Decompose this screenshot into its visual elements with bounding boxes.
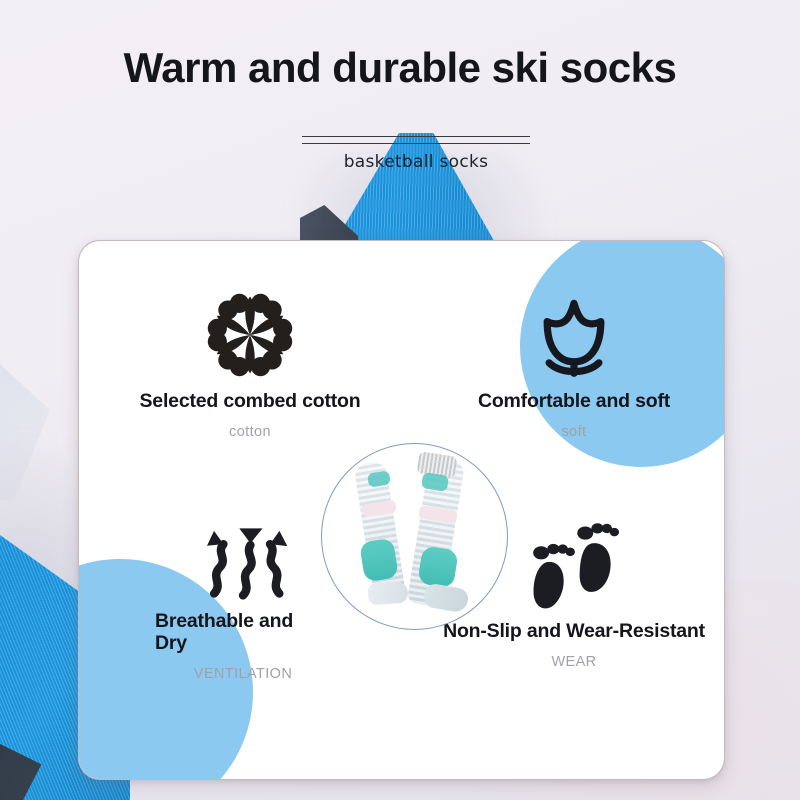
subbrand-block: basketball socks <box>302 136 530 172</box>
sock-foot <box>422 582 469 613</box>
feature-subtitle: WEAR <box>429 654 719 670</box>
sock-pair-photo <box>322 444 507 629</box>
page-title: Warm and durable ski socks <box>0 44 800 92</box>
product-feature-banner: Warm and durable ski socks basketball so… <box>0 0 800 800</box>
cotton-flower-icon <box>202 289 298 381</box>
feature-card: Selected combed cotton cotton Comfortabl… <box>78 240 725 780</box>
feature-subtitle: soft <box>424 424 724 440</box>
feature-subtitle: VENTILATION <box>119 666 367 682</box>
feature-subtitle: cotton <box>89 424 411 440</box>
sock-foot <box>367 581 408 606</box>
subbrand-label: basketball socks <box>302 152 530 172</box>
feature-cotton[interactable]: Selected combed cotton cotton <box>89 289 411 440</box>
feature-title: Breathable and Dry <box>119 611 315 655</box>
breathable-arrows-icon <box>181 519 305 601</box>
feature-title: Selected combed cotton <box>89 391 411 413</box>
product-image-circle[interactable] <box>321 443 508 630</box>
feature-title: Comfortable and soft <box>424 391 724 413</box>
double-rule-divider <box>302 136 530 144</box>
tulip-flower-icon <box>526 289 622 381</box>
feature-soft[interactable]: Comfortable and soft soft <box>424 289 724 440</box>
sock-teal-calf <box>417 545 459 588</box>
sock-teal-calf <box>359 538 399 583</box>
footprints-icon <box>522 519 626 611</box>
